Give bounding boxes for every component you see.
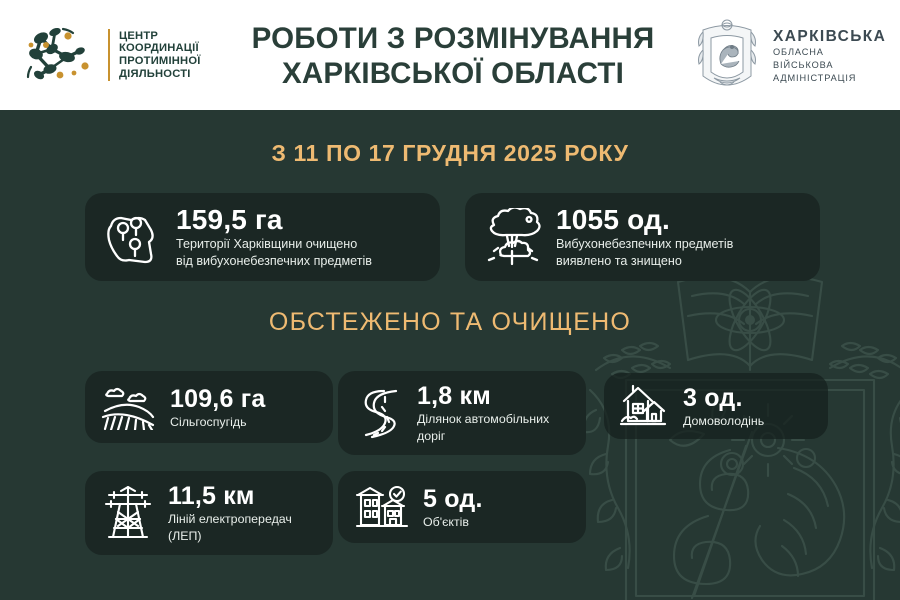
date-range-label: З 11 ПО 17 ГРУДНЯ 2025 РОКУ bbox=[0, 140, 900, 167]
stat-card-objects: 5 од. Об'єктів bbox=[338, 471, 586, 543]
organization-name: ЦЕНТР КООРДИНАЦІЇ ПРОТИМІННОЇ ДІЯЛЬНОСТІ bbox=[119, 30, 201, 80]
stat-description-line-1: Ліній електропередач bbox=[168, 512, 292, 527]
house-icon bbox=[618, 383, 670, 429]
header-band: ЦЕНТР КООРДИНАЦІЇ ПРОТИМІННОЇ ДІЯЛЬНОСТІ… bbox=[0, 0, 900, 110]
stat-value: 11,5 км bbox=[168, 482, 292, 510]
stat-description-line-1: Вибухонебезпечних предметів bbox=[556, 237, 733, 252]
stat-value: 5 од. bbox=[423, 485, 483, 513]
stat-description-line-2: виявлено та знищено bbox=[556, 254, 733, 269]
org-line-1: ЦЕНТР bbox=[119, 30, 201, 43]
page-title-line-2: ХАРКІВСЬКОЇ ОБЛАСТІ bbox=[228, 56, 678, 91]
stat-card-area-cleared: 159,5 га Території Харківщини очищено ві… bbox=[85, 193, 440, 281]
farm-field-icon bbox=[101, 384, 157, 430]
page-title: РОБОТИ З РОЗМІНУВАННЯ ХАРКІВСЬКОЇ ОБЛАСТ… bbox=[228, 21, 678, 91]
stat-card-agricultural-land: 109,6 га Сільгоспугідь bbox=[85, 371, 333, 443]
admin-line-1: ХАРКІВСЬКА bbox=[773, 27, 886, 46]
stat-text-roads: 1,8 км Ділянок автомобільних доріг bbox=[417, 382, 549, 444]
infographic-page: ЦЕНТР КООРДИНАЦІЇ ПРОТИМІННОЇ ДІЯЛЬНОСТІ… bbox=[0, 0, 900, 600]
buildings-check-icon bbox=[354, 483, 410, 531]
explosion-cloud-icon bbox=[481, 208, 543, 266]
page-title-line-1: РОБОТИ З РОЗМІНУВАННЯ bbox=[252, 22, 655, 55]
administration-logo: ХАРКІВСЬКА ОБЛАСНА ВІЙСЬКОВА АДМІНІСТРАЦ… bbox=[690, 16, 880, 96]
stat-text-households: 3 од. Домоволодінь bbox=[683, 384, 764, 429]
logo-divider bbox=[108, 29, 110, 81]
stat-card-power-lines: 11,5 км Ліній електропередач (ЛЕП) bbox=[85, 471, 333, 555]
stat-card-uxo-destroyed: 1055 од. Вибухонебезпечних предметів вия… bbox=[465, 193, 820, 281]
stat-value: 3 од. bbox=[683, 384, 764, 412]
stat-value: 1055 од. bbox=[556, 205, 733, 235]
stat-text-power-lines: 11,5 км Ліній електропередач (ЛЕП) bbox=[168, 482, 292, 544]
organization-logo: ЦЕНТР КООРДИНАЦІЇ ПРОТИМІННОЇ ДІЯЛЬНОСТІ bbox=[22, 22, 212, 88]
stat-value: 109,6 га bbox=[170, 385, 265, 413]
section-heading: ОБСТЕЖЕНО ТА ОЧИЩЕНО bbox=[0, 308, 900, 337]
stat-description-line-2: (ЛЕП) bbox=[168, 529, 292, 544]
stat-description-line-2: від вибухонебезпечних предметів bbox=[176, 254, 372, 269]
stat-description-line-1: Сільгоспугідь bbox=[170, 415, 265, 430]
map-pins-icon bbox=[101, 206, 163, 268]
stat-text-objects: 5 од. Об'єктів bbox=[423, 485, 483, 530]
stat-card-households: 3 од. Домоволодінь bbox=[604, 373, 828, 439]
stat-value: 1,8 км bbox=[417, 382, 549, 410]
org-line-3: ПРОТИМІННОЇ bbox=[119, 55, 201, 68]
winding-road-icon bbox=[354, 387, 404, 439]
stat-description-line-1: Об'єктів bbox=[423, 515, 483, 530]
stat-text-agricultural-land: 109,6 га Сільгоспугідь bbox=[170, 385, 265, 430]
stat-text-area-cleared: 159,5 га Території Харківщини очищено ві… bbox=[176, 205, 372, 270]
admin-line-2: ОБЛАСНА ВІЙСЬКОВА bbox=[773, 46, 886, 72]
stat-text-uxo-destroyed: 1055 од. Вибухонебезпечних предметів вия… bbox=[556, 205, 733, 270]
kharkiv-coat-of-arms-icon bbox=[690, 16, 764, 96]
stat-description-line-1: Території Харківщини очищено bbox=[176, 237, 372, 252]
stat-description-line-1: Домоволодінь bbox=[683, 414, 764, 429]
org-line-4: ДІЯЛЬНОСТІ bbox=[119, 68, 201, 81]
stat-description-line-1: Ділянок автомобільних bbox=[417, 412, 549, 427]
stat-description-line-2: доріг bbox=[417, 429, 549, 444]
network-nodes-logo-icon bbox=[22, 23, 106, 87]
stat-card-roads: 1,8 км Ділянок автомобільних доріг bbox=[338, 371, 586, 455]
stat-value: 159,5 га bbox=[176, 205, 372, 235]
org-line-2: КООРДИНАЦІЇ bbox=[119, 42, 201, 55]
admin-line-3: АДМІНІСТРАЦІЯ bbox=[773, 72, 886, 85]
administration-name: ХАРКІВСЬКА ОБЛАСНА ВІЙСЬКОВА АДМІНІСТРАЦ… bbox=[773, 27, 886, 85]
power-pylon-icon bbox=[101, 485, 155, 541]
